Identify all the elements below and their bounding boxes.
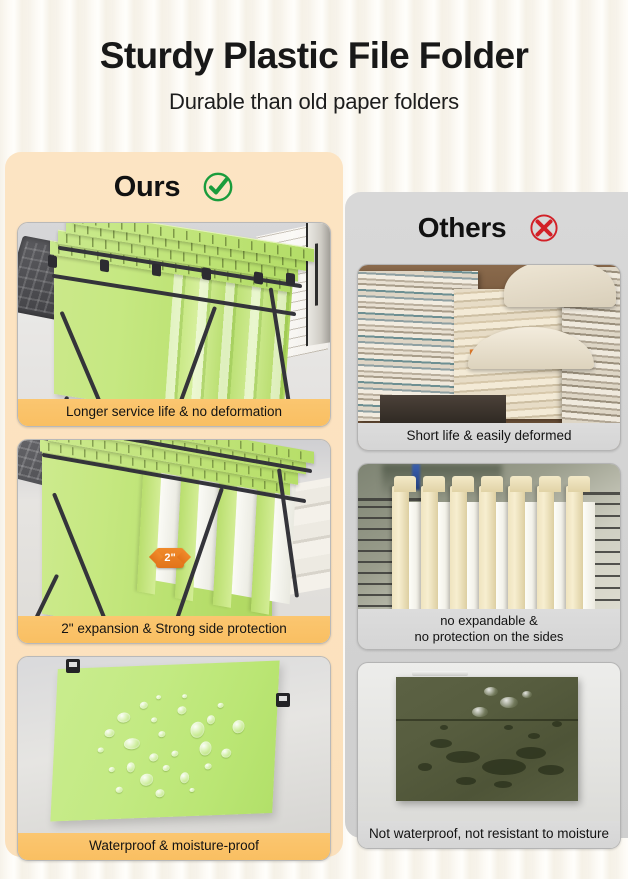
others-card-3[interactable]: Not waterproof, not resistant to moistur… [357, 662, 621, 849]
ours-photo-waterproof [18, 657, 330, 860]
folder-clip [276, 693, 290, 707]
cross-circle-icon [528, 212, 560, 244]
expansion-badge: 2" [156, 548, 184, 568]
others-title: Others [418, 212, 506, 244]
ours-caption-1: Longer service life & no deformation [18, 399, 330, 426]
others-caption-2-line1: no expandable & [364, 613, 614, 628]
ours-title: Ours [114, 171, 181, 204]
folder-clip [66, 659, 80, 673]
expansion-badge-label: 2" [164, 552, 175, 564]
check-circle-icon [202, 171, 234, 203]
ours-card-2[interactable]: 2" 2" expansion & Strong side protection [17, 439, 331, 644]
others-caption-2-line2: no protection on the sides [364, 629, 614, 644]
ours-caption-3: Waterproof & moisture-proof [18, 833, 330, 860]
others-panel-header: Others [345, 192, 628, 264]
page-subtitle: Durable than old paper folders [0, 89, 628, 115]
hanger-rod [412, 671, 468, 676]
ours-card-list: Longer service life & no deformation [5, 222, 343, 861]
ours-caption-2: 2" expansion & Strong side protection [18, 616, 330, 643]
others-card-1[interactable]: Short life & easily deformed [357, 264, 621, 451]
others-caption-2: no expandable & no protection on the sid… [358, 609, 620, 649]
others-panel: Others Short life & easily deformed [345, 192, 628, 838]
ours-card-3[interactable]: Waterproof & moisture-proof [17, 656, 331, 861]
ours-panel: Ours [5, 152, 343, 857]
others-caption-1: Short life & easily deformed [358, 423, 620, 450]
ours-panel-header: Ours [5, 152, 343, 222]
others-caption-3: Not waterproof, not resistant to moistur… [358, 821, 620, 848]
page-title: Sturdy Plastic File Folder [0, 36, 628, 76]
others-card-2[interactable]: no expandable & no protection on the sid… [357, 463, 621, 650]
ours-photo-folders-in-frame [18, 223, 330, 426]
ours-photo-expansion: 2" [18, 440, 330, 643]
others-card-list: Short life & easily deformed [345, 264, 628, 849]
ours-card-1[interactable]: Longer service life & no deformation [17, 222, 331, 427]
page-header: Sturdy Plastic File Folder Durable than … [0, 36, 628, 115]
